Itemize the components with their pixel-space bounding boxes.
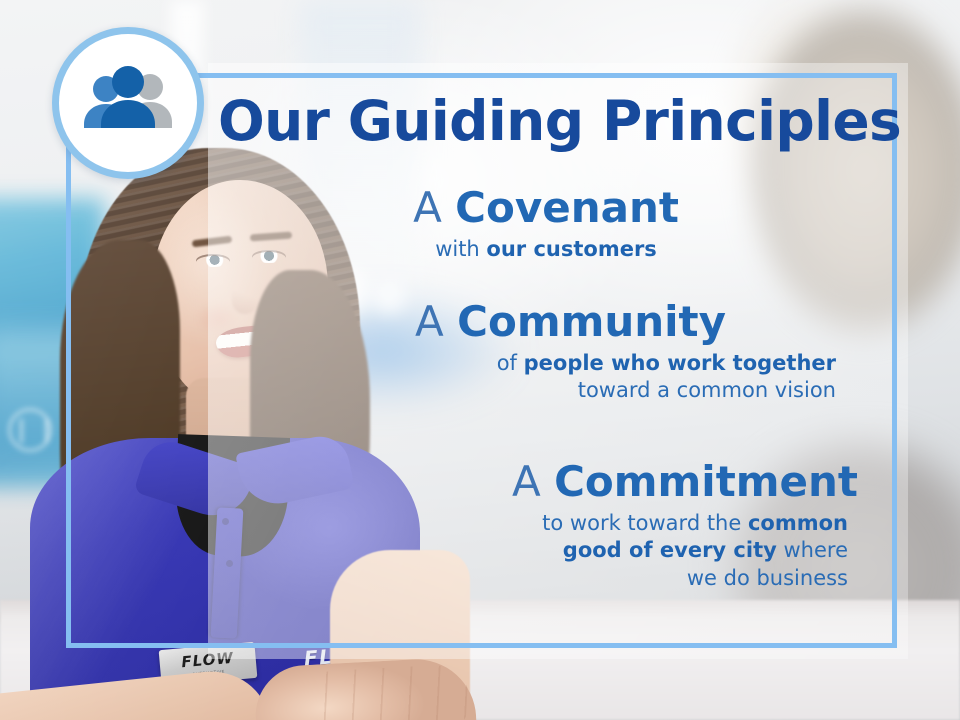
- page-title: Our Guiding Principles: [218, 94, 878, 149]
- principle-subtitle-prefix: of: [497, 351, 524, 375]
- principle-subtitle: with our customers: [236, 236, 856, 264]
- principle-title: A Commitment: [248, 460, 868, 504]
- principle-keyword: Commitment: [554, 457, 858, 506]
- principle-subtitle-line2-tail: where: [777, 538, 848, 562]
- principle-article: A: [512, 457, 541, 506]
- principle-commitment: A Commitment to work toward the common g…: [248, 460, 868, 593]
- principle-subtitle: of people who work together toward a com…: [236, 350, 856, 405]
- principle-covenant: A Covenant with our customers: [236, 186, 856, 263]
- principle-community: A Community of people who work together …: [236, 300, 856, 405]
- principle-subtitle-strong: our customers: [486, 237, 656, 261]
- principle-subtitle-strong: people who work together: [524, 351, 836, 375]
- principle-article: A: [415, 297, 444, 346]
- principle-subtitle-prefix: with: [435, 237, 486, 261]
- principle-subtitle-strong-2: good of every city: [563, 538, 777, 562]
- poster-canvas: FLOW AUTOMOTIVE FLOW: [0, 0, 960, 720]
- principle-title: A Covenant: [236, 186, 856, 230]
- principle-keyword: Covenant: [455, 183, 679, 232]
- principle-subtitle-line2: toward a common vision: [578, 378, 836, 402]
- principle-subtitle-line3: we do business: [687, 566, 848, 590]
- principle-subtitle-prefix: to work toward the: [542, 511, 748, 535]
- principle-keyword: Community: [457, 297, 726, 346]
- principle-title: A Community: [236, 300, 856, 344]
- principle-article: A: [413, 183, 442, 232]
- text-content: Our Guiding Principles A Covenant with o…: [0, 0, 960, 720]
- principle-subtitle: to work toward the common good of every …: [248, 510, 868, 593]
- principle-subtitle-strong: common: [748, 511, 848, 535]
